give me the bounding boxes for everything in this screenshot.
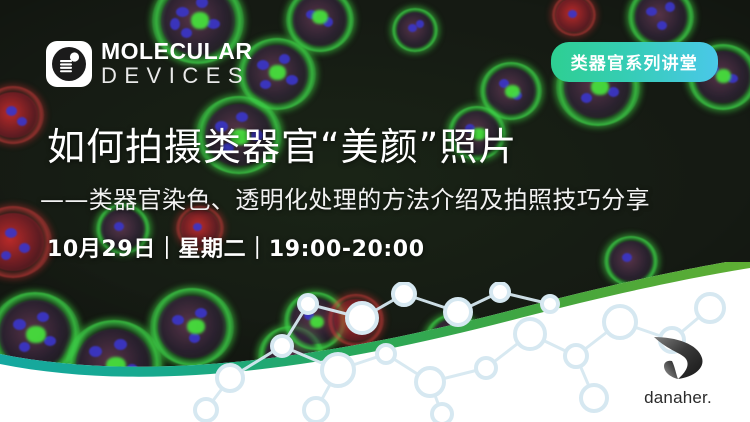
- danaher-swoosh-icon: [642, 334, 714, 382]
- danaher-wordmark: danaher.: [624, 388, 732, 408]
- molecular-devices-logo: MOLECULAR DEVICES: [46, 40, 252, 87]
- page-title: 如何拍摄类器官“美颜”照片: [47, 116, 517, 171]
- danaher-logo: danaher.: [624, 334, 732, 408]
- molecular-devices-wordmark: MOLECULAR DEVICES: [101, 40, 252, 87]
- logo-line-devices: DEVICES: [101, 65, 252, 87]
- logo-line-molecular: MOLECULAR: [101, 40, 252, 63]
- series-badge: 类器官系列讲堂: [551, 42, 718, 82]
- page-subtitle: ——类器官染色、透明化处理的方法介绍及拍照技巧分享: [40, 180, 650, 215]
- organoid-cluster: [392, 8, 438, 52]
- webinar-poster: MOLECULAR DEVICES 类器官系列讲堂 如何拍摄类器官“美颜”照片 …: [0, 0, 750, 422]
- logo-glyph: [49, 44, 89, 84]
- event-datetime: 10月29日｜星期二｜19:00-20:00: [47, 231, 425, 263]
- molecular-devices-mark-icon: [46, 41, 92, 87]
